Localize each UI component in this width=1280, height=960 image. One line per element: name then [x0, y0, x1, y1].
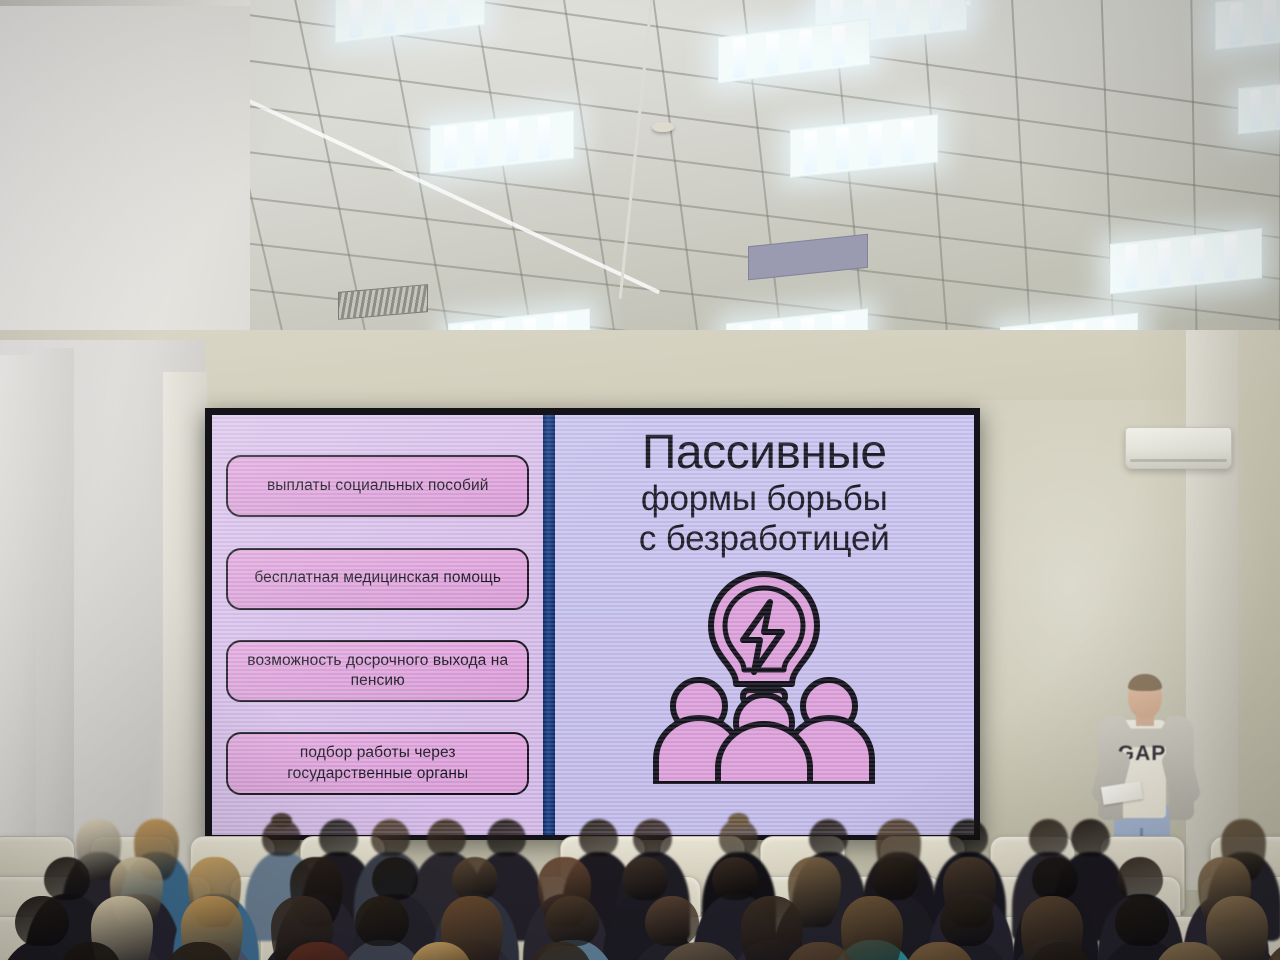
ceiling-light-panel	[790, 114, 938, 178]
audience-member-head	[529, 942, 592, 960]
list-item: выплаты социальных пособий	[226, 455, 529, 517]
ceiling-light-panel	[965, 0, 971, 6]
audience-member	[30, 930, 158, 960]
ceiling-light-panel	[718, 19, 870, 84]
list-item: возможность досрочного выхода на пенсию	[226, 640, 529, 702]
audience-member	[760, 930, 888, 960]
ceiling-light-panel	[1215, 0, 1280, 50]
slide-right-panel: Пассивные формы борьбы с безработицей	[555, 415, 974, 835]
ceiling-light-panel	[1110, 228, 1262, 294]
audience-member	[500, 930, 628, 960]
slide-title-line1: Пассивные	[642, 429, 887, 476]
presenter-arm-right	[1160, 747, 1202, 807]
audience-member-head	[1264, 942, 1280, 960]
lecture-hall-photo: выплаты социальных пособий бесплатная ме…	[0, 0, 1280, 960]
audience-member	[640, 930, 768, 960]
audience-member-head	[657, 942, 743, 960]
audience-member	[1130, 930, 1258, 960]
slide-surface: выплаты социальных пособий бесплатная ме…	[212, 415, 974, 835]
ceiling-light-panel	[430, 110, 574, 173]
audience-member-head	[164, 942, 236, 960]
audience-member-head	[409, 942, 472, 960]
audience-member	[380, 930, 508, 960]
audience-member-head	[784, 942, 856, 960]
audience-member-head	[59, 942, 122, 960]
lightbulb-people-icon	[639, 566, 889, 784]
audience-member	[1240, 930, 1280, 960]
ceiling-light-panel	[1238, 76, 1280, 135]
audience-member	[258, 930, 386, 960]
list-item: подбор работы через государственные орга…	[226, 732, 529, 794]
air-conditioner	[1125, 427, 1232, 469]
audience-member	[1000, 930, 1128, 960]
slide-artwork	[639, 566, 889, 784]
soffit-edge	[0, 0, 250, 6]
list-item: бесплатная медицинская помощь	[226, 548, 529, 610]
audience-member-head	[1154, 942, 1226, 960]
audience-member	[880, 930, 1008, 960]
slide-title-line3: с безработицей	[639, 519, 890, 558]
slide-title-line2: формы борьбы	[641, 479, 888, 518]
slide-left-panel: выплаты социальных пособий бесплатная ме…	[212, 415, 543, 835]
slide-divider	[543, 415, 554, 835]
audience-member-head	[904, 942, 976, 960]
smoke-detector-icon	[652, 122, 674, 132]
presentation-display[interactable]: выплаты социальных пособий бесплатная ме…	[205, 408, 980, 840]
audience-member	[140, 930, 268, 960]
presenter-hair	[1128, 674, 1162, 691]
audience-member-head	[282, 942, 354, 960]
audience-member-head	[1029, 942, 1092, 960]
